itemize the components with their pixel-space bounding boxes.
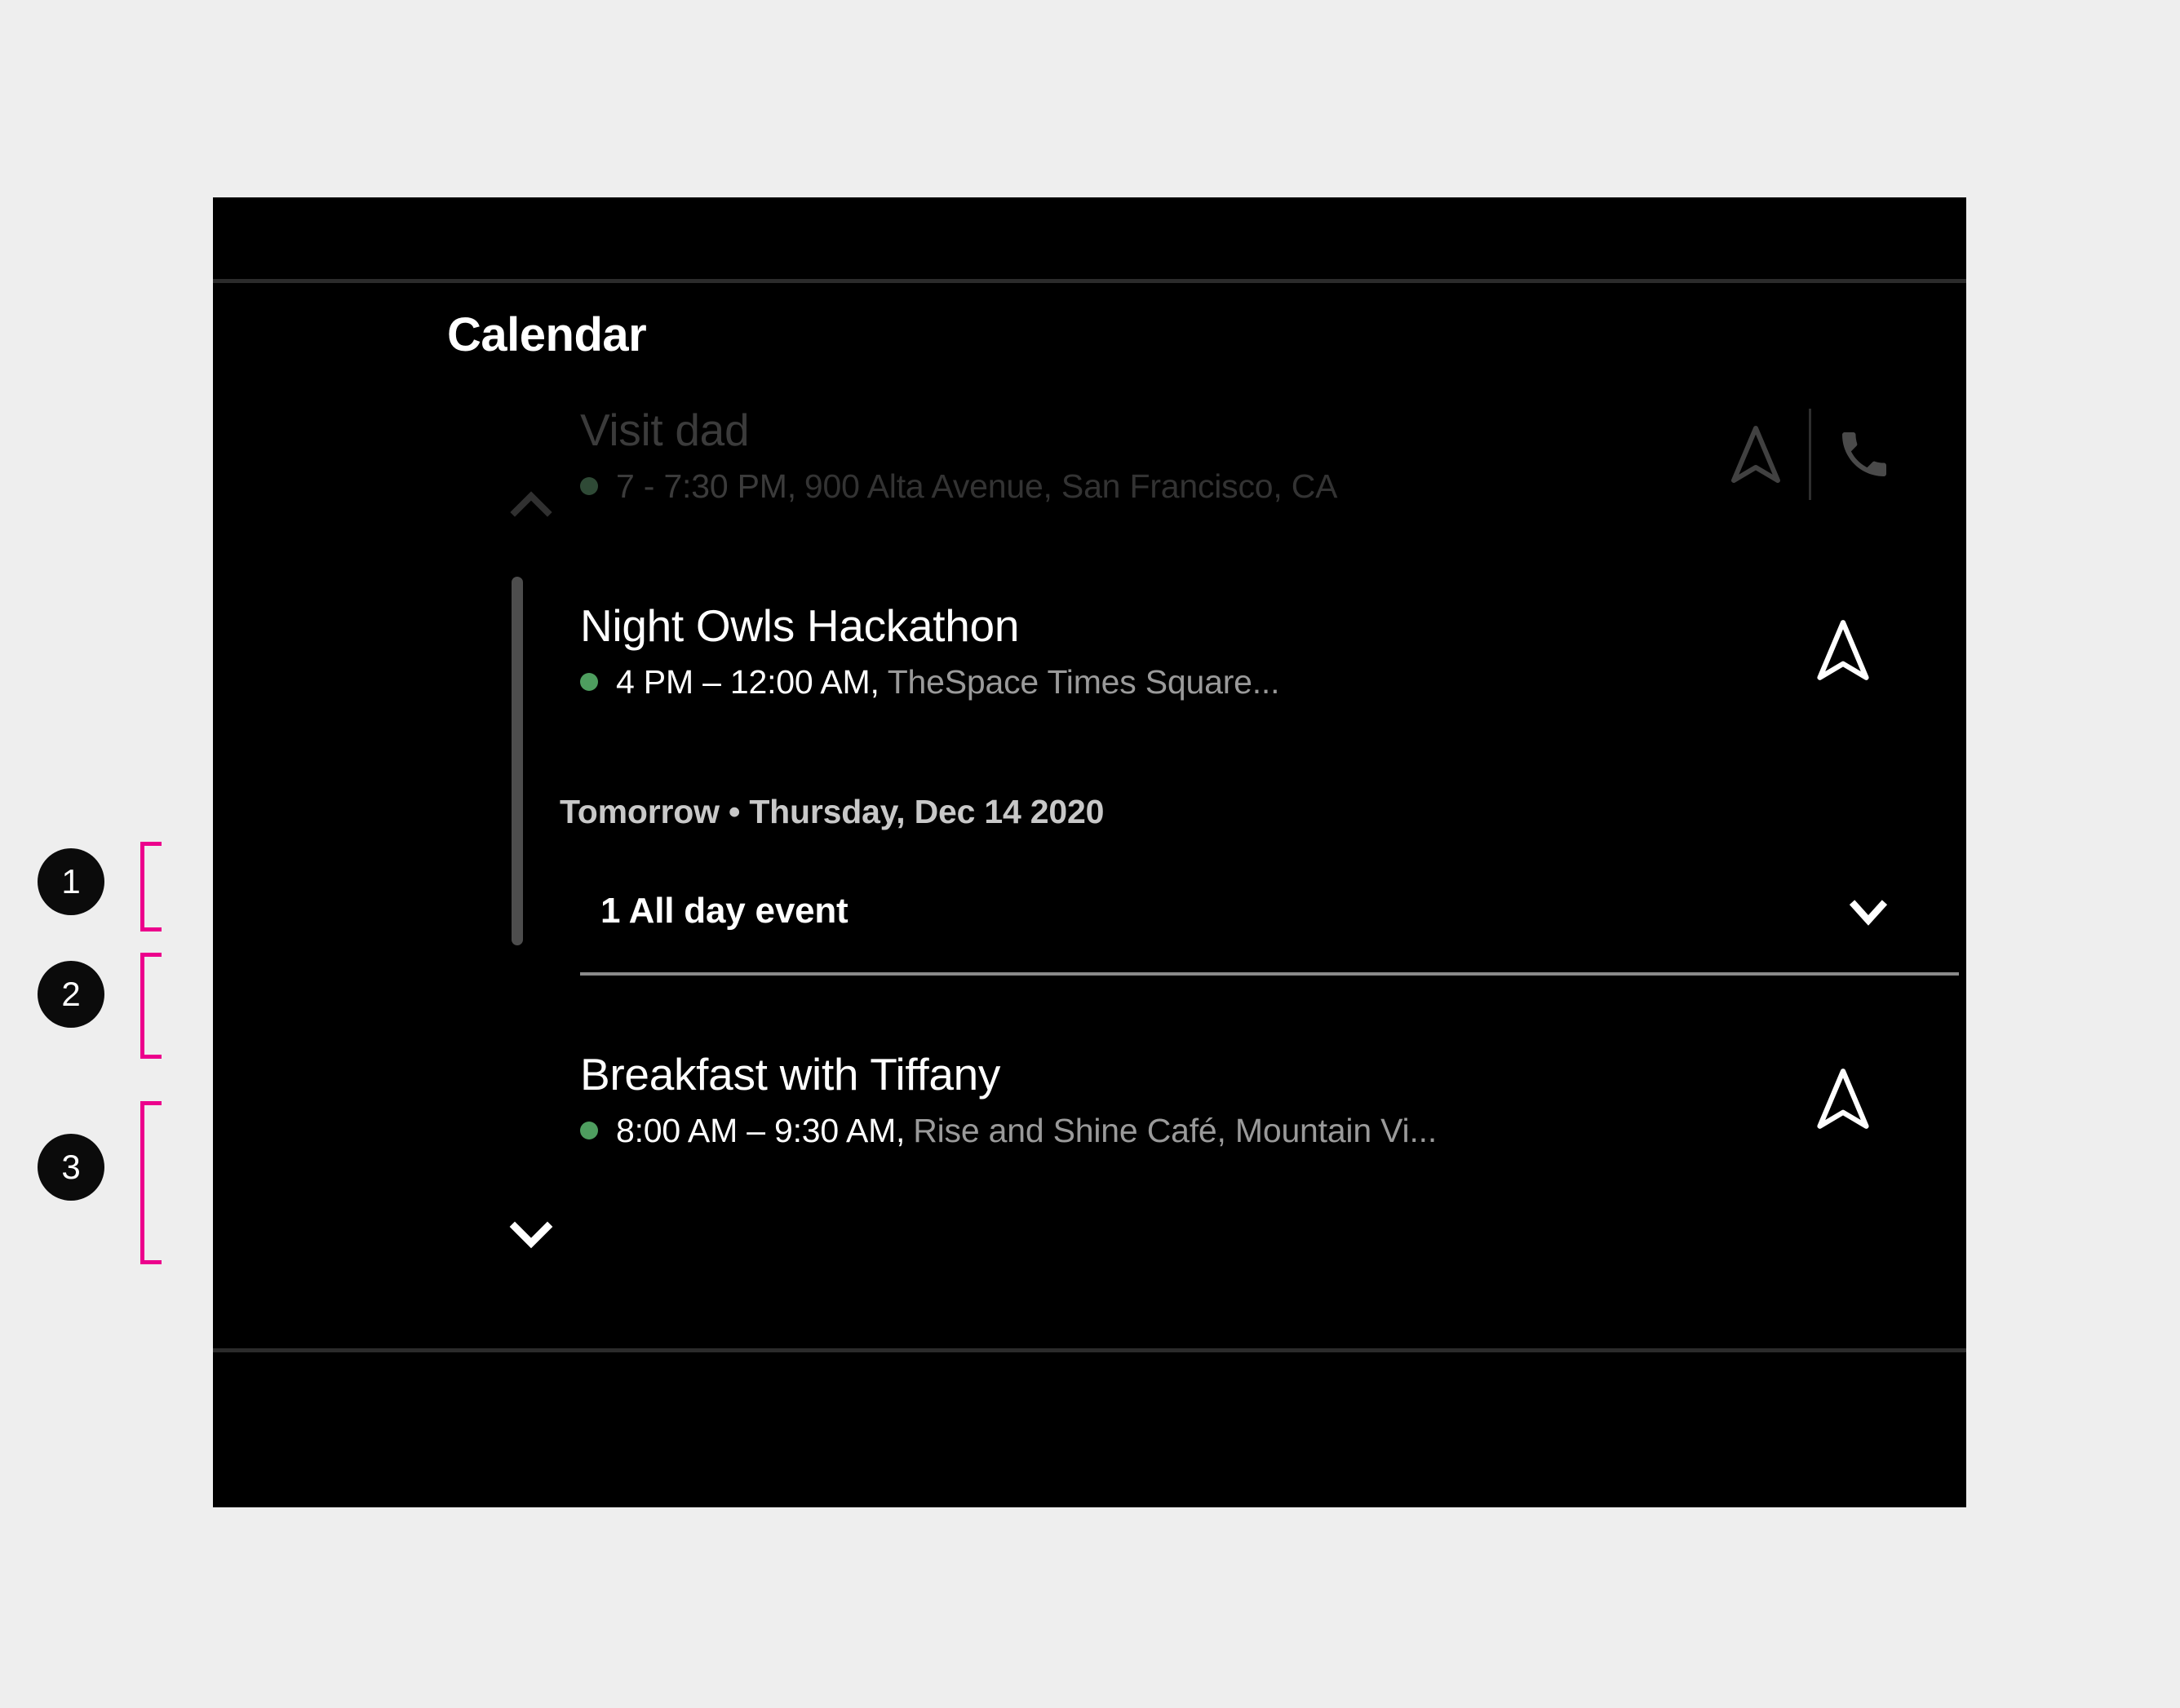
chevron-down-icon: [498, 1201, 564, 1266]
event-title: Visit dad: [580, 404, 1703, 456]
event-list: Visit dad 7 - 7:30 PM, 900 Alta Avenue, …: [580, 381, 1917, 1343]
event-details: Night Owls Hackathon 4 PM – 12:00 AM, Th…: [580, 600, 1769, 701]
event-details: Breakfast with Tiffany 8:00 AM – 9:30 AM…: [580, 1048, 1769, 1150]
panel-bottom-bar: [213, 1352, 1966, 1507]
navigate-icon: [1812, 1066, 1874, 1131]
event-subtitle: 8:00 AM – 9:30 AM, Rise and Shine Café, …: [580, 1112, 1769, 1150]
scrollbar-thumb[interactable]: [512, 577, 523, 945]
scroll-down-button[interactable]: [498, 1201, 564, 1266]
list-item[interactable]: Breakfast with Tiffany 8:00 AM – 9:30 AM…: [580, 1025, 1917, 1172]
annotation-badge-2: 2: [38, 961, 104, 1028]
event-status-dot: [580, 673, 598, 691]
all-day-event-row[interactable]: 1 All day event: [600, 870, 1917, 952]
calendar-panel: Calendar Visit dad: [213, 197, 1966, 1507]
section-divider: [580, 972, 1959, 976]
event-subtitle: 7 - 7:30 PM, 900 Alta Avenue, San Franci…: [580, 467, 1703, 506]
event-time: 8:00 AM – 9:30 AM,: [616, 1112, 905, 1150]
annotation-bracket-3: [140, 1101, 162, 1264]
event-actions: [1769, 1046, 1917, 1152]
scroll-up-button[interactable]: [498, 473, 564, 538]
navigate-button[interactable]: [1769, 617, 1917, 683]
event-status-dot: [580, 1122, 598, 1139]
event-actions: [1769, 597, 1917, 703]
all-day-expand-button[interactable]: [1819, 880, 1917, 942]
navigate-button[interactable]: [1703, 423, 1809, 485]
event-location: 900 Alta Avenue, San Francisco, CA: [804, 467, 1337, 506]
event-location: Rise and Shine Café, Mountain Vi...: [913, 1112, 1437, 1150]
event-status-dot: [580, 477, 598, 495]
event-details: Visit dad 7 - 7:30 PM, 900 Alta Avenue, …: [580, 404, 1703, 506]
chevron-up-icon: [498, 473, 564, 538]
all-day-event-label: 1 All day event: [600, 891, 1819, 931]
event-time: 4 PM – 12:00 AM,: [616, 663, 880, 701]
event-actions: [1703, 401, 1917, 507]
annotation-bracket-2: [140, 953, 162, 1059]
annotation-badge-1: 1: [38, 848, 104, 915]
navigate-icon: [1812, 617, 1874, 683]
navigate-icon: [1726, 423, 1785, 485]
calendar-content: Calendar Visit dad: [213, 283, 1966, 1348]
panel-top-bar: [213, 197, 1966, 279]
event-time: 7 - 7:30 PM,: [616, 467, 796, 506]
navigate-button[interactable]: [1769, 1066, 1917, 1131]
page-title: Calendar: [447, 308, 646, 362]
annotation-column: 1 2 3: [0, 0, 213, 1708]
chevron-down-icon: [1837, 880, 1899, 942]
call-button[interactable]: [1811, 425, 1917, 484]
event-location: TheSpace Times Square...: [888, 663, 1280, 701]
scroll-rail: [482, 381, 580, 1343]
list-item[interactable]: Visit dad 7 - 7:30 PM, 900 Alta Avenue, …: [580, 381, 1917, 528]
annotation-bracket-1: [140, 842, 162, 931]
event-title: Night Owls Hackathon: [580, 600, 1769, 652]
call-icon: [1835, 425, 1894, 484]
event-title: Breakfast with Tiffany: [580, 1048, 1769, 1100]
list-item[interactable]: Night Owls Hackathon 4 PM – 12:00 AM, Th…: [580, 577, 1917, 723]
day-header: Tomorrow • Thursday, Dec 14 2020: [560, 793, 1104, 831]
annotation-badge-3: 3: [38, 1134, 104, 1201]
event-subtitle: 4 PM – 12:00 AM, TheSpace Times Square..…: [580, 663, 1769, 701]
